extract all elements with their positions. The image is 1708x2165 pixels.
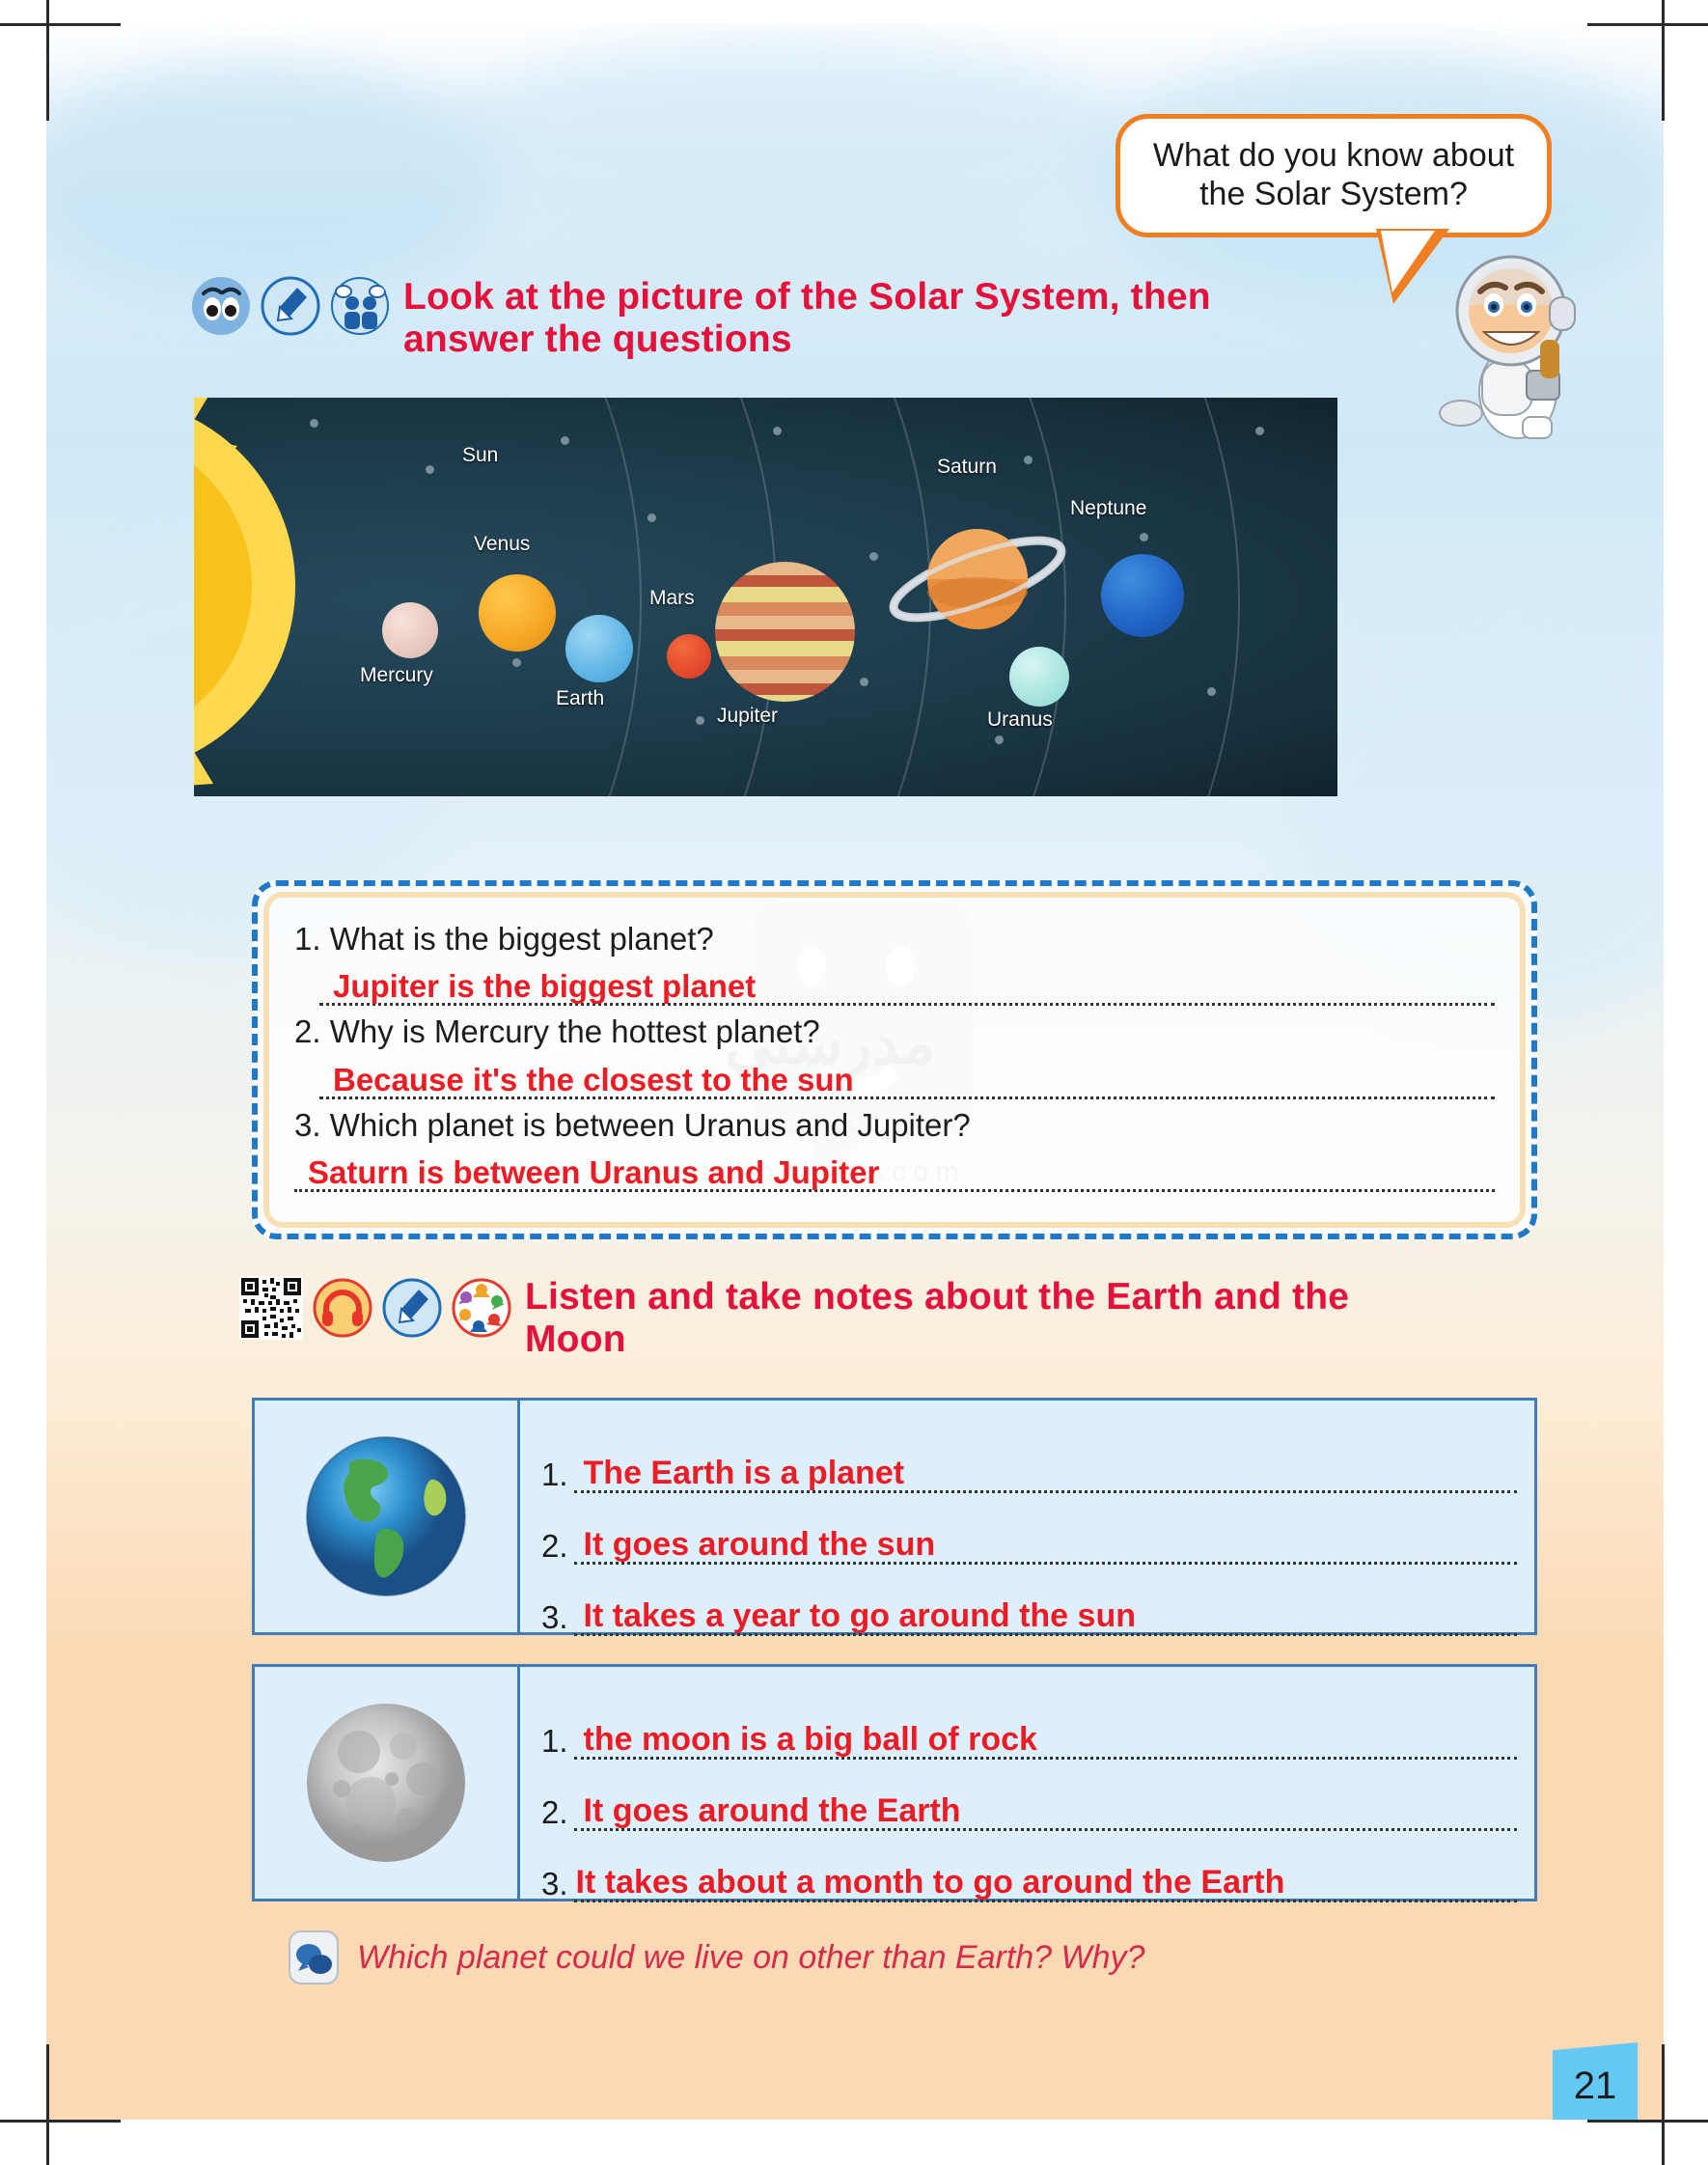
note-row: 2. It goes around the sun <box>541 1493 1517 1565</box>
note-row: 2. It goes around the Earth <box>541 1760 1517 1831</box>
activity-one-heading: Look at the picture of the Solar System,… <box>403 276 1349 360</box>
note-line[interactable]: The Earth is a planet <box>574 1448 1517 1493</box>
discussion-prompt: Which planet could we live on other than… <box>288 1929 1144 1985</box>
note-line[interactable]: the moon is a big ball of rock <box>574 1714 1517 1760</box>
discussion-text: Which planet could we live on other than… <box>357 1939 1144 1977</box>
planet-label-neptune: Neptune <box>1070 497 1146 520</box>
speech-bubbles-icon <box>288 1929 340 1985</box>
earth-globe-image <box>299 1429 473 1603</box>
note-row: 1. The Earth is a planet <box>541 1422 1517 1493</box>
crop-mark-bottom-right-v <box>1662 2044 1665 2165</box>
star-dot <box>696 716 704 725</box>
star-dot <box>1207 687 1216 696</box>
note-row: 3. It takes a year to go around the sun <box>541 1565 1517 1636</box>
activity-two-icons <box>239 1276 511 1340</box>
question-item: 1. What is the biggest planet? Jupiter i… <box>294 919 1495 1006</box>
crop-mark-top-left-h <box>0 23 121 26</box>
planet-label-saturn: Saturn <box>937 456 997 479</box>
planet-label-mars: Mars <box>649 587 695 610</box>
question-prompt: Which planet is between Uranus and Jupit… <box>330 1107 971 1143</box>
moon-image-cell <box>255 1667 520 1899</box>
star-dot <box>1024 456 1033 464</box>
note-text: It takes about a month to go around the … <box>576 1864 1285 1901</box>
planet-venus <box>479 574 556 652</box>
solar-system-image: Sun Mercury Venus Earth Mars Jupiter Sat… <box>194 398 1337 796</box>
activity-one-icons <box>191 276 390 336</box>
crop-mark-bottom-left-h <box>0 2120 121 2123</box>
question-item: 3. Which planet is between Uranus and Ju… <box>294 1105 1495 1192</box>
write-pencil-icon <box>382 1278 442 1338</box>
moon-notes-table: 1. the moon is a big ball of rock 2. It … <box>252 1664 1537 1901</box>
questions-box-inner: 1. What is the biggest planet? Jupiter i… <box>263 892 1526 1228</box>
planet-mars <box>667 634 711 679</box>
questions-box: 1. What is the biggest planet? Jupiter i… <box>252 880 1537 1239</box>
group-work-icon <box>452 1278 511 1338</box>
star-dot <box>512 658 521 667</box>
answer-line[interactable]: Because it's the closest to the sun <box>319 1052 1495 1099</box>
earth-notes-table: 1. The Earth is a planet 2. It goes arou… <box>252 1398 1537 1635</box>
qr-code-icon[interactable] <box>239 1276 303 1340</box>
question-text: 2. Why is Mercury the hottest planet? <box>294 1012 1495 1051</box>
activity-two-heading: Listen and take notes about the Earth an… <box>525 1276 1442 1360</box>
activity-two-header: Listen and take notes about the Earth an… <box>239 1276 1442 1360</box>
note-line[interactable]: It takes a year to go around the sun <box>574 1591 1517 1636</box>
crop-mark-bottom-right-h <box>1587 2120 1708 2123</box>
star-dot <box>1140 533 1148 541</box>
note-number: 1. <box>541 1723 574 1760</box>
write-pencil-icon <box>261 276 320 336</box>
listen-headphones-icon <box>313 1278 372 1338</box>
astronaut-illustration <box>1426 247 1610 440</box>
question-number: 2. <box>294 1013 321 1049</box>
star-dot <box>995 736 1004 744</box>
planet-earth <box>565 615 633 682</box>
note-text: It goes around the sun <box>584 1526 936 1564</box>
star-dot <box>1255 427 1264 435</box>
planet-saturn <box>881 504 1074 649</box>
star-dot <box>860 678 868 686</box>
question-text: 1. What is the biggest planet? <box>294 919 1495 958</box>
question-number: 3. <box>294 1107 321 1143</box>
note-row: 1. the moon is a big ball of rock <box>541 1688 1517 1760</box>
planet-uranus <box>1009 647 1069 707</box>
planet-label-venus: Venus <box>474 533 530 556</box>
answer-text: Because it's the closest to the sun <box>333 1062 854 1098</box>
note-line[interactable]: It goes around the sun <box>574 1519 1517 1565</box>
note-text: It goes around the Earth <box>584 1792 961 1830</box>
note-text: It takes a year to go around the sun <box>584 1597 1136 1635</box>
crop-mark-top-left-v <box>46 0 49 121</box>
note-row: 3. It takes about a month to go around t… <box>541 1831 1517 1902</box>
speak-pair-icon <box>330 276 390 336</box>
full-moon-image <box>299 1696 473 1870</box>
question-text: 3. Which planet is between Uranus and Ju… <box>294 1105 1495 1145</box>
star-dot <box>773 427 782 435</box>
background-wash <box>46 62 510 293</box>
background-wash <box>452 33 1127 245</box>
star-dot <box>647 513 656 522</box>
question-number: 1. <box>294 921 321 957</box>
speech-bubble-tail-inner <box>1381 231 1435 292</box>
star-dot <box>561 436 569 445</box>
answer-line[interactable]: Jupiter is the biggest planet <box>319 958 1495 1006</box>
look-eyes-icon <box>191 276 251 336</box>
note-line[interactable]: It goes around the Earth <box>574 1786 1517 1831</box>
speech-bubble-text: What do you know about the Solar System? <box>1153 137 1514 212</box>
answer-text: Jupiter is the biggest planet <box>333 968 756 1005</box>
moon-notes-cell: 1. the moon is a big ball of rock 2. It … <box>520 1667 1534 1899</box>
planet-neptune <box>1101 554 1184 637</box>
star-dot <box>869 552 878 561</box>
planet-label-mercury: Mercury <box>360 664 433 687</box>
answer-line[interactable]: Saturn is between Uranus and Jupiter <box>294 1145 1495 1192</box>
earth-notes-cell: 1. The Earth is a planet 2. It goes arou… <box>520 1401 1534 1632</box>
planet-mercury <box>382 602 438 658</box>
activity-one-header: Look at the picture of the Solar System,… <box>191 276 1349 360</box>
speech-bubble: What do you know about the Solar System? <box>1116 114 1552 237</box>
planet-label-jupiter: Jupiter <box>717 705 778 728</box>
planet-jupiter <box>715 562 855 702</box>
page-number: 21 <box>1553 2042 1638 2120</box>
crop-mark-top-right-h <box>1587 23 1708 26</box>
planet-label-uranus: Uranus <box>987 708 1053 732</box>
note-number: 2. <box>541 1794 574 1831</box>
worksheet-page: What do you know about the Solar System? <box>46 23 1664 2120</box>
crop-mark-bottom-left-v <box>46 2044 49 2165</box>
star-dot <box>426 465 434 474</box>
crop-mark-top-right-v <box>1662 0 1665 121</box>
question-prompt: What is the biggest planet? <box>330 921 714 957</box>
sun-illustration <box>194 398 397 796</box>
note-number: 3. <box>541 1866 574 1902</box>
note-line[interactable]: It takes about a month to go around the … <box>574 1857 1517 1902</box>
page-number-text: 21 <box>1574 2065 1617 2108</box>
note-number: 1. <box>541 1457 574 1493</box>
question-item: 2. Why is Mercury the hottest planet? Be… <box>294 1012 1495 1098</box>
note-number: 3. <box>541 1599 574 1636</box>
question-prompt: Why is Mercury the hottest planet? <box>330 1013 820 1049</box>
earth-image-cell <box>255 1401 520 1632</box>
note-text: The Earth is a planet <box>584 1455 905 1492</box>
note-text: the moon is a big ball of rock <box>584 1721 1037 1759</box>
planet-label-sun: Sun <box>462 444 498 467</box>
note-number: 2. <box>541 1528 574 1565</box>
planet-label-earth: Earth <box>556 687 604 710</box>
answer-text: Saturn is between Uranus and Jupiter <box>308 1154 879 1191</box>
